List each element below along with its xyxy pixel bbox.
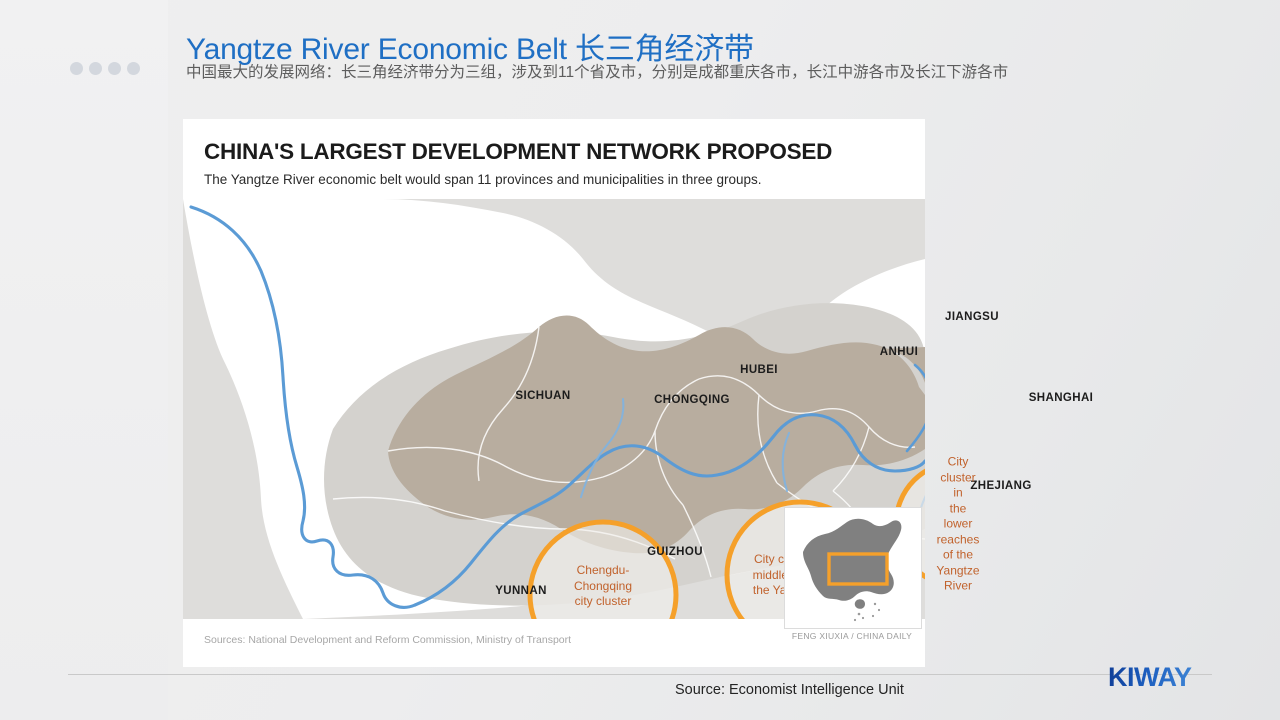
province-label-jiangsu: JIANGSU [945,311,999,323]
figure-sources: Sources: National Development and Reform… [204,634,571,646]
dot-2 [89,62,102,75]
footer-source: Source: Economist Intelligence Unit [675,682,904,698]
figure-title: CHINA'S LARGEST DEVELOPMENT NETWORK PROP… [204,139,832,165]
cluster-label-3: City cluster in the lower reaches of the… [936,454,979,594]
page-subtitle: 中国最大的发展网络：长三角经济带分为三组，涉及到11个省及市，分别是成都重庆各市… [186,62,1056,83]
inset-hainan [855,599,865,609]
left-accent-panel [0,0,168,720]
inset-map-svg [785,508,919,626]
cluster-label-1: Chengdu- Chongqing city cluster [574,563,632,610]
province-label-yunnan: YUNNAN [495,585,547,597]
footer-divider [68,674,1212,675]
province-label-guizhou: GUIZHOU [647,546,703,558]
province-label-hubei: HUBEI [740,364,778,376]
province-label-anhui: ANHUI [880,346,918,358]
kiway-logo: KIWAY [1108,662,1192,693]
inset-locator-map [784,507,922,629]
figure-credit: FENG XIUXIA / CHINA DAILY [784,631,920,641]
dot-4 [127,62,140,75]
slide-canvas: Yangtze River Economic Belt 长三角经济带 中国最大的… [0,0,1280,720]
decorative-dots [70,62,140,75]
province-label-shanghai: SHANGHAI [1029,392,1094,404]
figure-subtitle: The Yangtze River economic belt would sp… [204,172,762,187]
dot-1 [70,62,83,75]
figure-panel: CHINA'S LARGEST DEVELOPMENT NETWORK PROP… [183,119,925,667]
province-label-chongqing: CHONGQING [654,394,730,406]
province-label-sichuan: SICHUAN [515,390,570,402]
dot-3 [108,62,121,75]
